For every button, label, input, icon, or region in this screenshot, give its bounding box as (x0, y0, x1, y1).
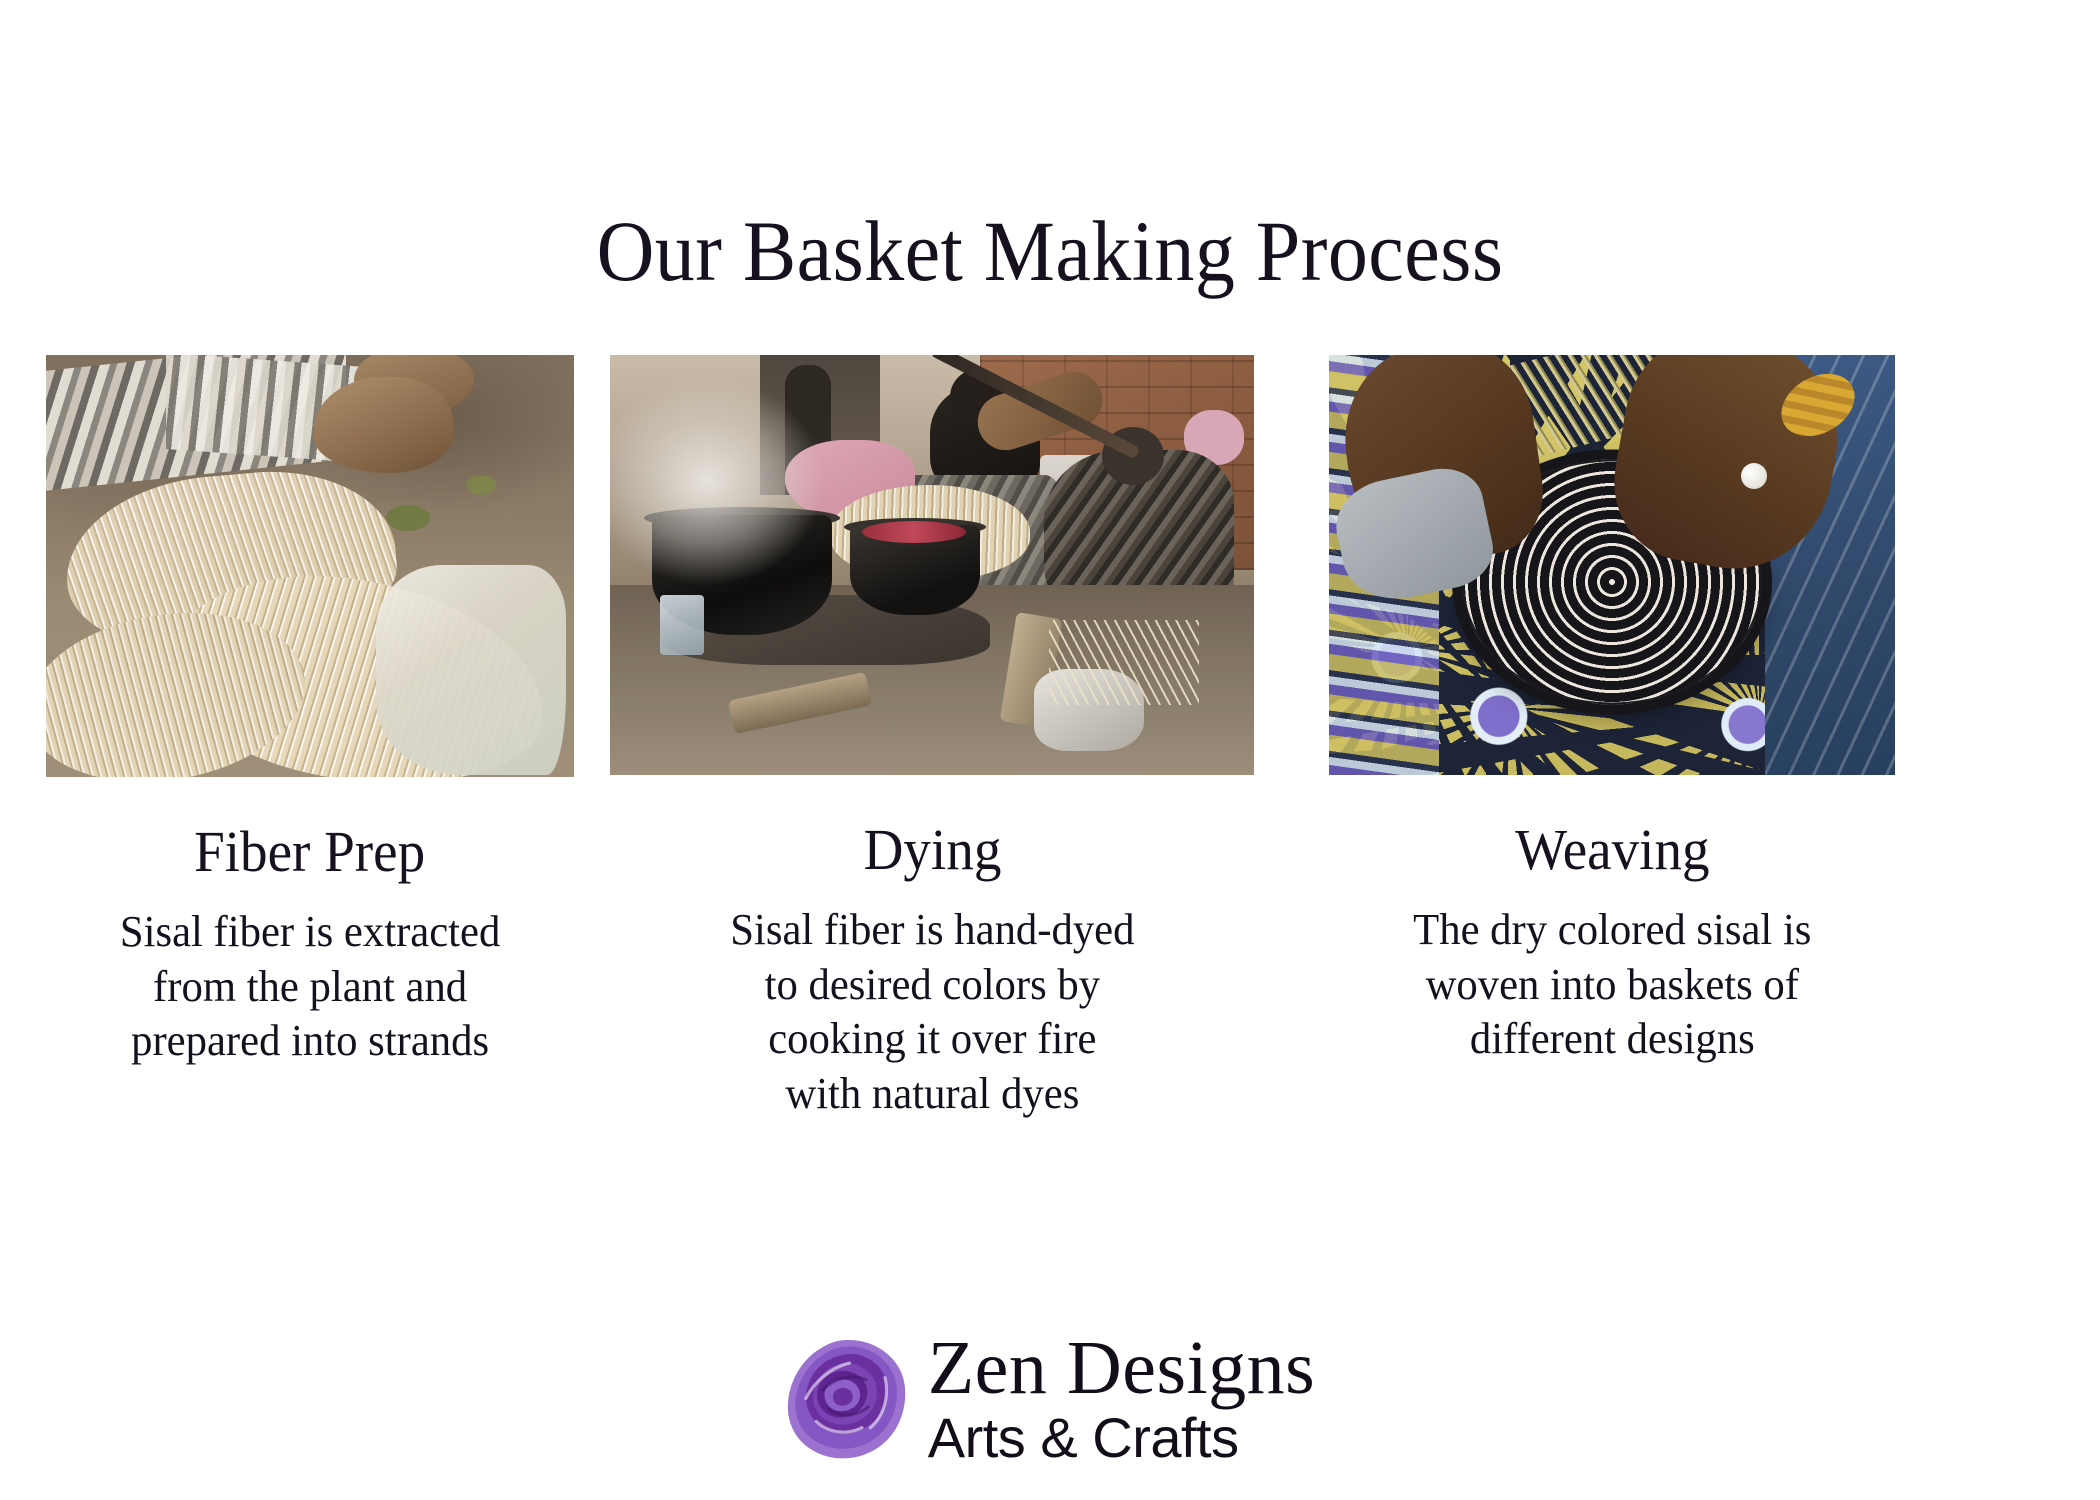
logo-wordmark: Zen Designs Arts & Crafts (928, 1330, 1316, 1466)
description-line: Sisal fiber is extracted (120, 905, 500, 960)
description-line: cooking it over fire (730, 1012, 1134, 1067)
step-description-dying: Sisal fiber is hand-dyed to desired colo… (730, 903, 1134, 1121)
step-title-dying: Dying (863, 821, 1001, 879)
logo-company-name: Zen Designs (928, 1330, 1316, 1406)
description-line: different designs (1413, 1012, 1811, 1067)
weaving-photo (1329, 355, 1895, 775)
smoke-cloud (610, 355, 850, 585)
process-step-dying: Dying Sisal fiber is hand-dyed to desire… (607, 355, 1257, 1121)
zen-rose-logo-mark-icon (785, 1336, 910, 1461)
sisal-strands (1049, 620, 1199, 705)
description-line: prepared into strands (120, 1014, 500, 1069)
page-title: Our Basket Making Process (74, 208, 2027, 294)
step-title-weaving: Weaving (1515, 821, 1709, 879)
plastic-sheet (376, 565, 566, 775)
logo-tagline: Arts & Crafts (928, 1410, 1316, 1466)
dying-photo (610, 355, 1254, 775)
grass-tuft-secondary (466, 475, 496, 495)
grass-tuft (386, 505, 430, 531)
description-line: to desired colors by (730, 958, 1134, 1013)
fiber-prep-photo (46, 355, 574, 777)
finger-ring (1741, 463, 1767, 489)
red-dye-liquid (862, 521, 966, 543)
infographic-page: Our Basket Making Process Fiber Prep Sis… (0, 0, 2100, 1500)
brand-logo: Zen Designs Arts & Crafts (0, 1330, 2100, 1466)
description-line: from the plant and (120, 960, 500, 1015)
description-line: Sisal fiber is hand-dyed (730, 903, 1134, 958)
description-line: woven into baskets of (1413, 958, 1811, 1013)
process-steps: Fiber Prep Sisal fiber is extracted from… (0, 355, 2100, 1121)
water-bottle (660, 595, 704, 655)
step-description-weaving: The dry colored sisal is woven into bask… (1413, 903, 1811, 1067)
process-step-weaving: Weaving The dry colored sisal is woven i… (1312, 355, 1912, 1121)
step-description-fiber-prep: Sisal fiber is extracted from the plant … (120, 905, 500, 1069)
person-foot (314, 377, 454, 473)
process-step-fiber-prep: Fiber Prep Sisal fiber is extracted from… (30, 355, 590, 1121)
description-line: The dry colored sisal is (1413, 903, 1811, 958)
step-title-fiber-prep: Fiber Prep (194, 823, 425, 881)
description-line: with natural dyes (730, 1067, 1134, 1122)
